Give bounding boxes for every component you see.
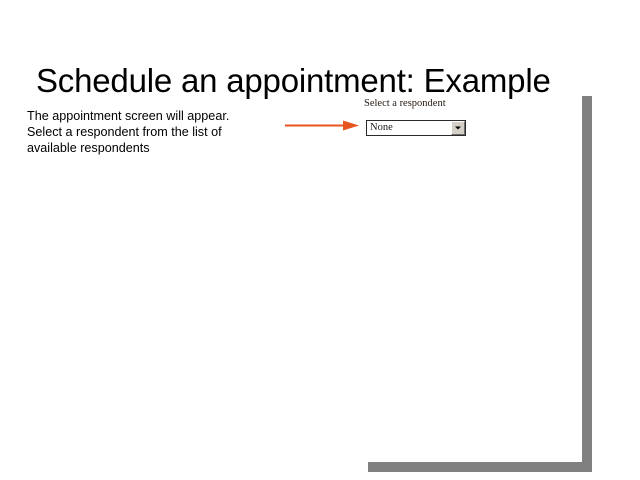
embedded-screenshot: Select a respondent None <box>362 96 584 146</box>
arrow-right-icon <box>285 118 365 134</box>
respondent-select[interactable]: None <box>366 120 466 136</box>
slide-canvas: Schedule an appointment: Example The app… <box>0 0 640 480</box>
chevron-down-icon[interactable] <box>451 121 465 135</box>
respondent-field-label: Select a respondent <box>364 98 446 110</box>
frame-shadow-right <box>582 96 592 472</box>
respondent-select-value: None <box>367 121 451 135</box>
chevron-down-glyph <box>455 127 461 130</box>
body-paragraph: The appointment screen will appear. Sele… <box>27 108 257 156</box>
frame-shadow-bottom <box>368 462 592 472</box>
